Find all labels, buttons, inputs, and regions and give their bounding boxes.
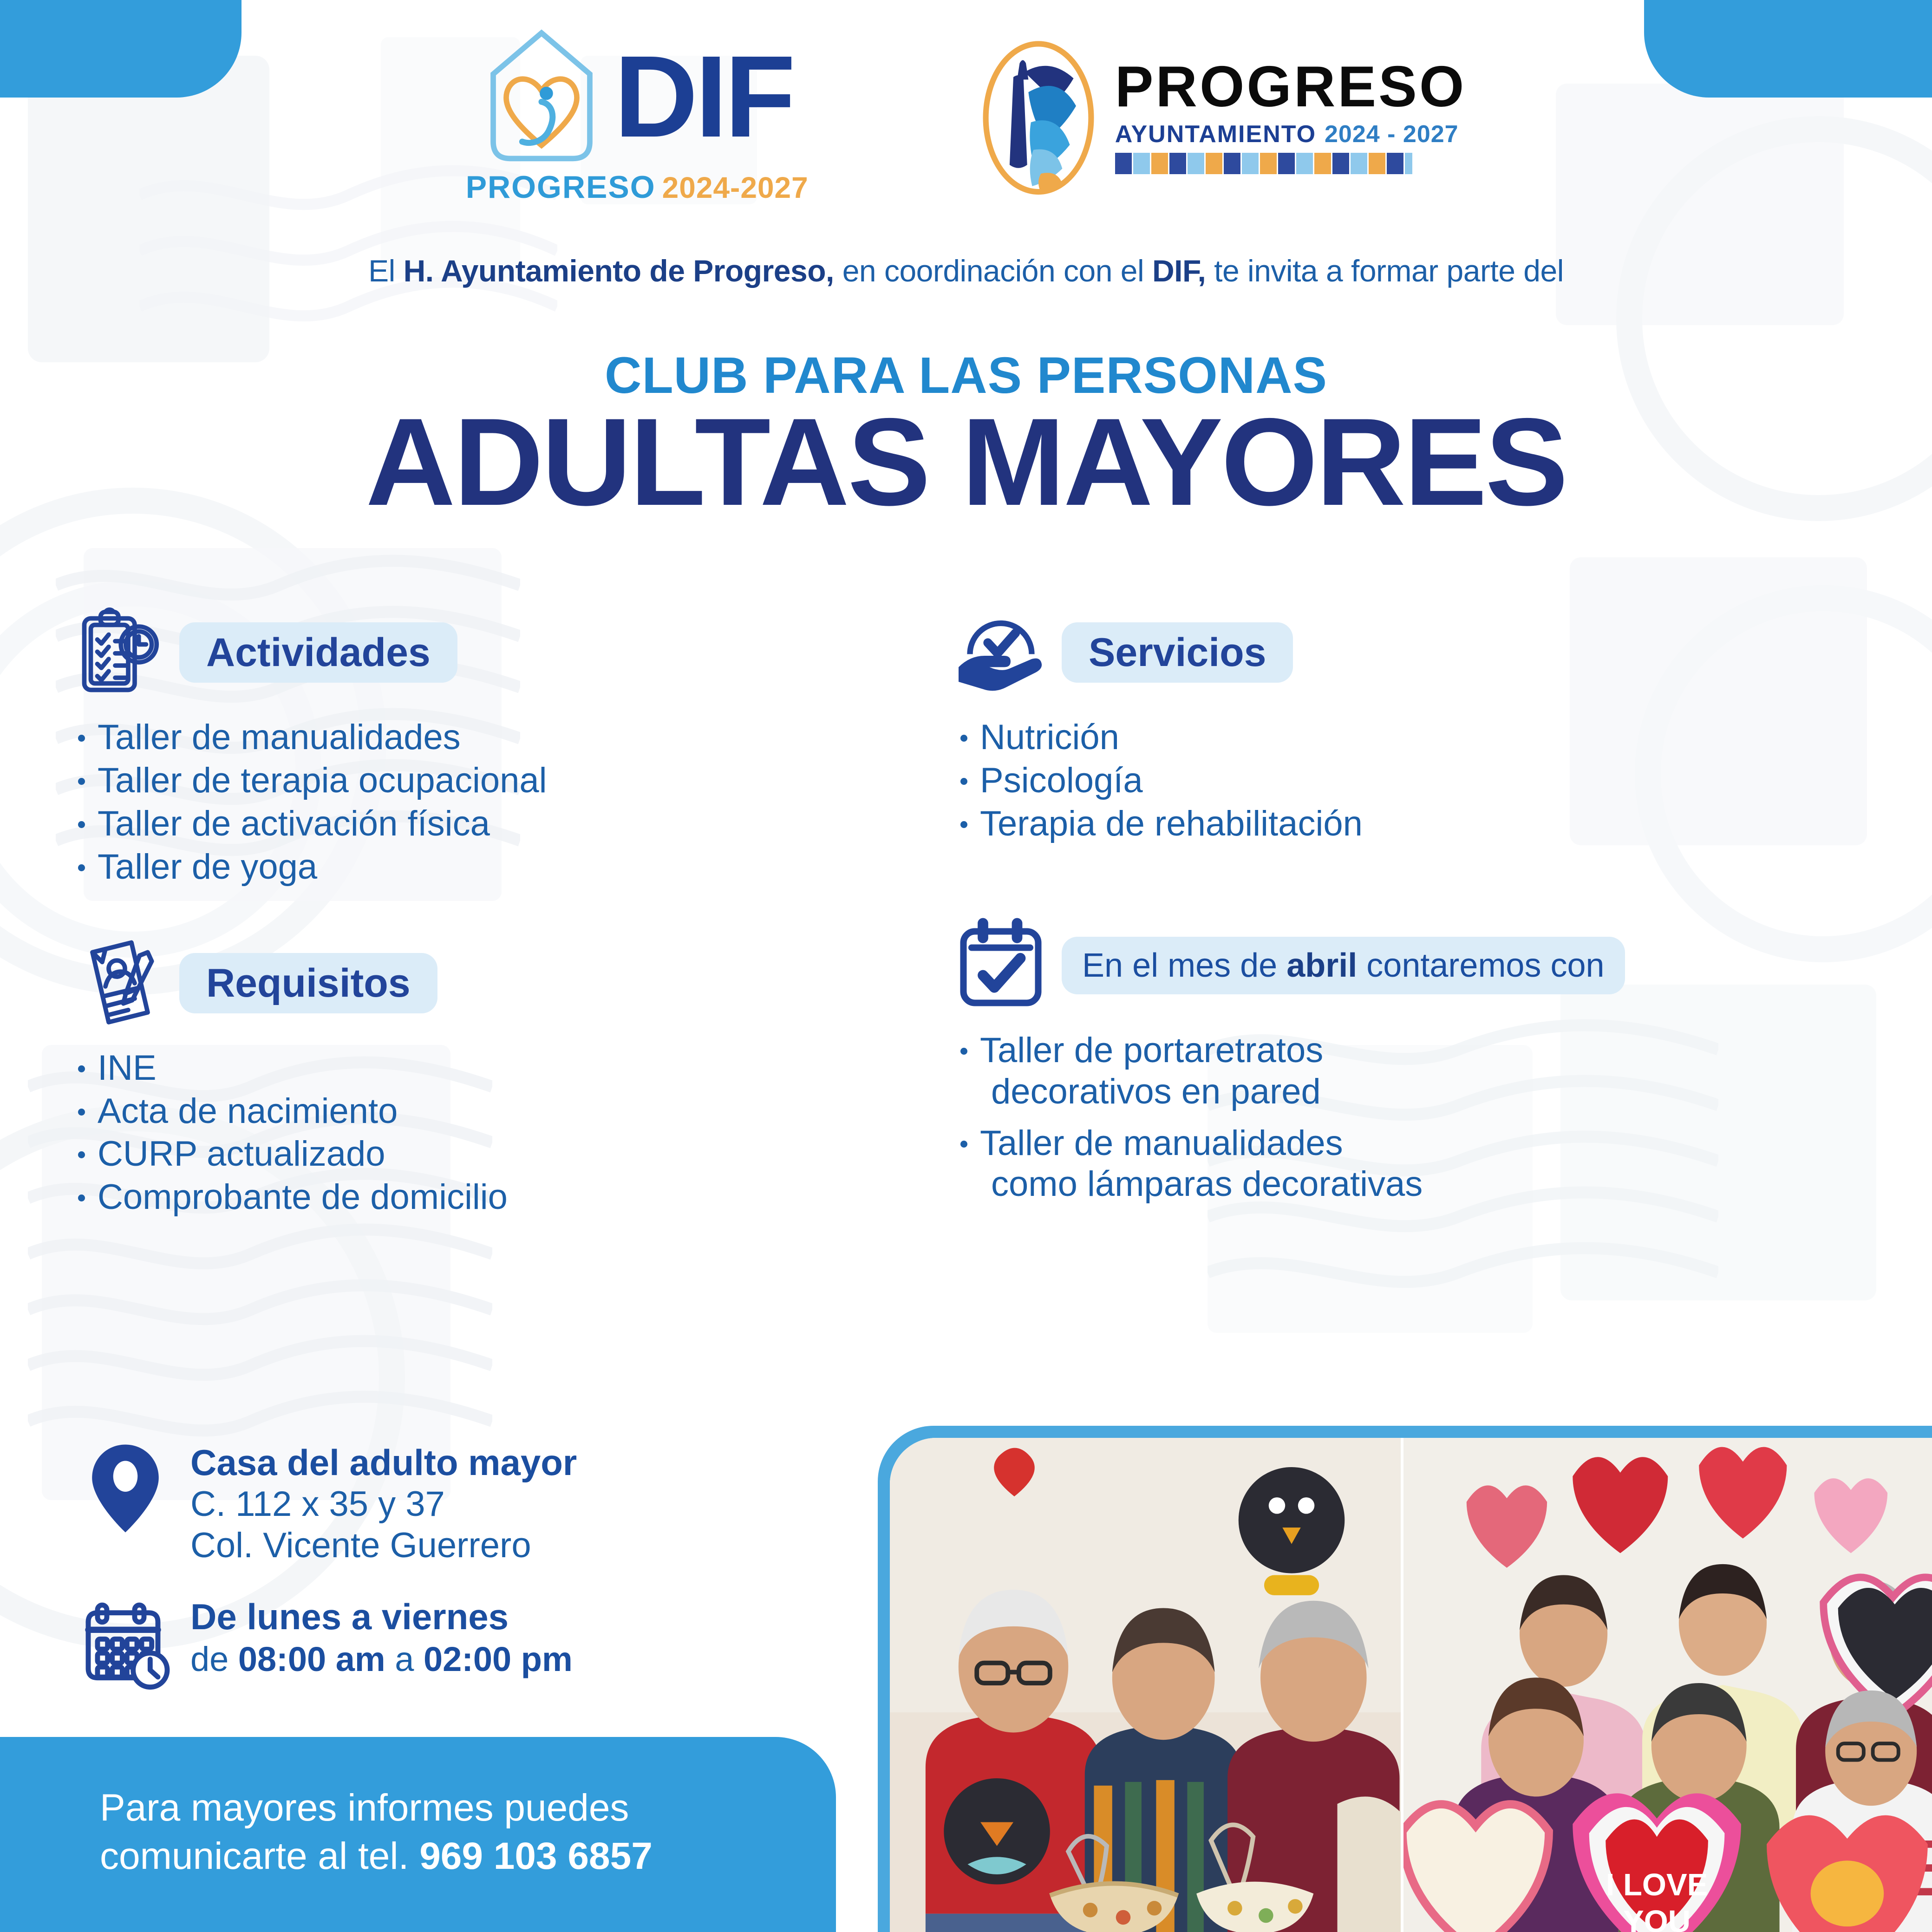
footer-phone: 969 103 6857 xyxy=(419,1835,653,1877)
section-title-requisitos: Requisitos xyxy=(206,961,411,1005)
photo-left xyxy=(890,1438,1401,1932)
servicios-list: Nutrición Psicología Terapia de rehabili… xyxy=(952,717,1862,845)
hours-range: de 08:00 am a 02:00 pm xyxy=(190,1639,573,1680)
list-item: INE xyxy=(70,1048,929,1089)
location-row: Casa del adulto mayor C. 112 x 35 y 37 C… xyxy=(79,1440,868,1566)
map-pin-icon xyxy=(79,1440,172,1537)
list-item: Taller de portaretratos decorativos en p… xyxy=(952,1030,1862,1113)
hours-row: De lunes a viernes de 08:00 am a 02:00 p… xyxy=(79,1593,868,1691)
list-item: Terapia de rehabilitación xyxy=(952,803,1862,845)
list-item: Taller de activación física xyxy=(70,803,929,845)
dif-wordmark: DIF xyxy=(614,47,793,146)
list-item: Psicología xyxy=(952,760,1862,802)
right-column: Servicios Nutrición Psicología Terapia d… xyxy=(952,604,1862,1233)
list-item-line1: Taller de manualidades xyxy=(980,1123,1343,1163)
left-column: Actividades Taller de manualidades Talle… xyxy=(70,604,929,1246)
list-item: Acta de nacimiento xyxy=(70,1091,929,1132)
calendar-clock-icon xyxy=(79,1593,172,1691)
photo-right: I LOVE YOU xyxy=(1403,1438,1932,1932)
hours-joiner: a xyxy=(385,1640,424,1678)
page-title: ADULTAS MAYORES xyxy=(0,399,1932,524)
requisitos-list: INE Acta de nacimiento CURP actualizado … xyxy=(70,1048,929,1219)
footer-line-1: Para mayores informes puedes xyxy=(100,1784,824,1832)
hours-text: De lunes a viernes de 08:00 am a 02:00 p… xyxy=(190,1593,573,1680)
hours-close: 02:00 pm xyxy=(424,1640,573,1678)
section-abril: En el mes de abril contaremos con Taller… xyxy=(952,917,1862,1206)
progreso-lighthouse-wave-logo-icon xyxy=(976,39,1101,193)
location-street: C. 112 x 35 y 37 xyxy=(190,1484,577,1525)
actividades-list: Taller de manualidades Taller de terapia… xyxy=(70,717,929,888)
section-requisitos: Requisitos INE Acta de nacimiento CURP a… xyxy=(70,934,929,1219)
svg-text:I LOVE: I LOVE xyxy=(1606,1867,1708,1902)
photo-collage: I LOVE YOU xyxy=(878,1426,1932,1932)
location-name: Casa del adulto mayor xyxy=(190,1442,577,1484)
section-title-servicios: Servicios xyxy=(1089,630,1266,675)
invite-dif: DIF, xyxy=(1152,254,1206,288)
list-item: Taller de terapia ocupacional xyxy=(70,760,929,802)
section-actividades: Actividades Taller de manualidades Talle… xyxy=(70,604,929,888)
poster-root: DIF PROGRESO 2024-2027 xyxy=(0,0,1932,1932)
dif-city-label: PROGRESO xyxy=(466,169,656,205)
hours-open: 08:00 am xyxy=(238,1640,385,1678)
hours-days: De lunes a viernes xyxy=(190,1595,573,1639)
abril-post: contaremos con xyxy=(1357,947,1604,984)
dif-heart-house-logo-icon xyxy=(481,27,602,166)
dif-years-label: 2024-2027 xyxy=(662,170,809,205)
abril-pre: En el mes de xyxy=(1082,947,1286,984)
section-title-pill-servicios: Servicios xyxy=(1062,622,1293,683)
list-item: Taller de manualidades xyxy=(70,717,929,758)
dif-logo: DIF PROGRESO 2024-2027 xyxy=(466,27,809,205)
logo-bar: DIF PROGRESO 2024-2027 xyxy=(0,28,1932,204)
section-title-pill-abril: En el mes de abril contaremos con xyxy=(1062,937,1625,994)
section-title-pill-requisitos: Requisitos xyxy=(179,953,437,1013)
list-item: CURP actualizado xyxy=(70,1134,929,1175)
list-item-line2: decorativos en pared xyxy=(980,1071,1862,1113)
list-item: Taller de yoga xyxy=(70,847,929,888)
section-servicios: Servicios Nutrición Psicología Terapia d… xyxy=(952,604,1862,845)
location-colonia: Col. Vicente Guerrero xyxy=(190,1525,577,1566)
invite-ayuntamiento: H. Ayuntamiento de Progreso, xyxy=(404,254,834,288)
invite-pre: El xyxy=(368,254,404,288)
section-title-abril: En el mes de abril contaremos con xyxy=(1082,947,1605,984)
svg-text:YOU: YOU xyxy=(1623,1904,1690,1932)
calendar-check-icon xyxy=(952,917,1050,1014)
abril-month: abril xyxy=(1286,947,1357,984)
list-item-line1: Taller de portaretratos xyxy=(980,1031,1323,1070)
location-text: Casa del adulto mayor C. 112 x 35 y 37 C… xyxy=(190,1440,577,1566)
invite-mid: en coordinación con el xyxy=(834,254,1152,288)
footer-line-2-pre: comunicarte al tel. xyxy=(100,1835,419,1877)
document-person-pencil-icon xyxy=(70,934,167,1032)
progreso-wordmark: PROGRESO xyxy=(1115,58,1467,116)
section-title-pill-actividades: Actividades xyxy=(179,622,457,683)
footer-contact: Para mayores informes puedes comunicarte… xyxy=(100,1784,824,1880)
progreso-pattern-strip xyxy=(1115,153,1412,174)
progreso-sub-label: AYUNTAMIENTO xyxy=(1115,120,1316,148)
section-title-actividades: Actividades xyxy=(206,630,431,675)
list-item: Taller de manualidades como lámparas dec… xyxy=(952,1123,1862,1206)
invitation-line: El H. Ayuntamiento de Progreso, en coord… xyxy=(0,253,1932,288)
list-item-line2: como lámparas decorativas xyxy=(980,1164,1862,1205)
abril-list: Taller de portaretratos decorativos en p… xyxy=(952,1030,1862,1206)
contact-info-block: Casa del adulto mayor C. 112 x 35 y 37 C… xyxy=(79,1440,868,1718)
clipboard-checklist-clock-icon xyxy=(70,604,167,701)
list-item: Nutrición xyxy=(952,717,1862,758)
list-item: Comprobante de domicilio xyxy=(70,1177,929,1218)
progreso-logo: PROGRESO AYUNTAMIENTO 2024 - 2027 xyxy=(976,39,1467,193)
invite-post: te invita a formar parte del xyxy=(1206,254,1564,288)
hand-holding-check-icon xyxy=(952,604,1050,701)
footer-line-2: comunicarte al tel. 969 103 6857 xyxy=(100,1832,824,1880)
progreso-years-label: 2024 - 2027 xyxy=(1325,120,1459,148)
hours-prefix: de xyxy=(190,1640,238,1678)
